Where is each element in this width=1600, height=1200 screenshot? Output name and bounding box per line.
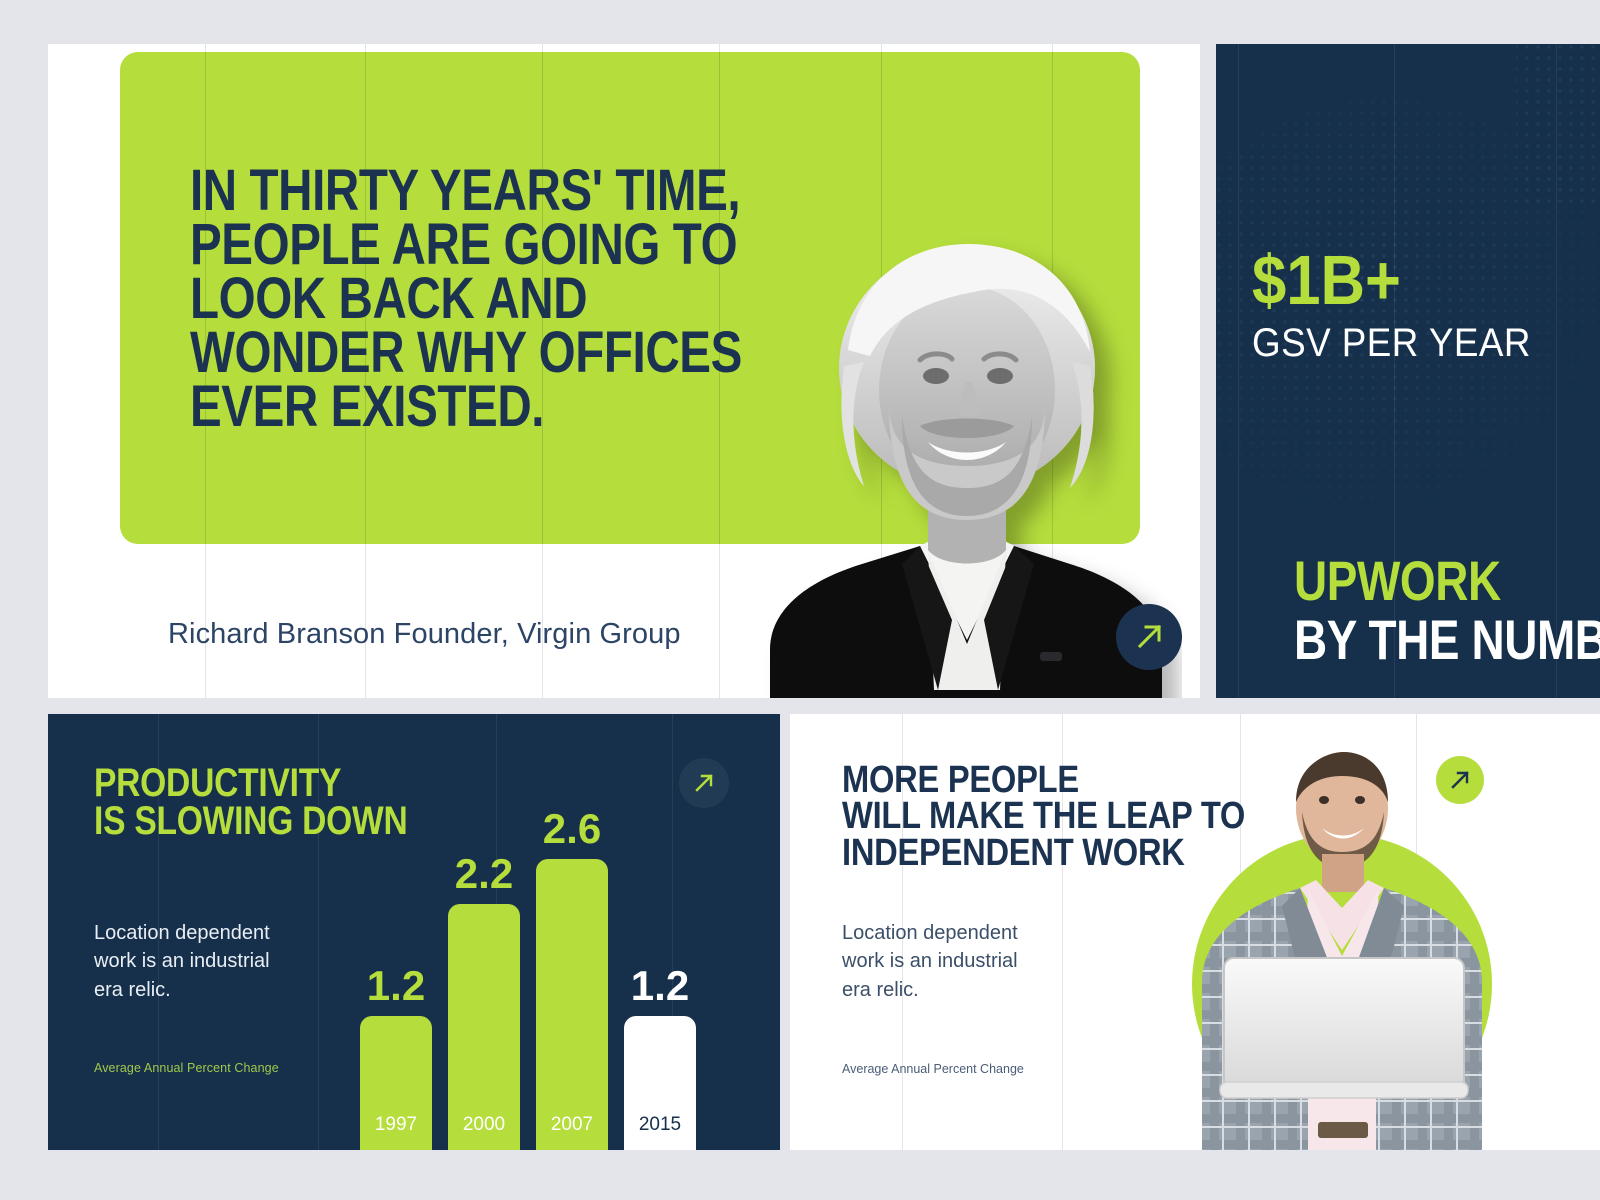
quote-line-2: PEOPLE ARE GOING TO <box>190 218 715 272</box>
bar-value-label: 2.2 <box>448 850 520 898</box>
upwork-numbers-panel: $1B+ GSV PER YEAR UPWORK BY THE NUMBERS <box>1216 44 1600 698</box>
productivity-chart-panel: PRODUCTIVITY IS SLOWING DOWN Location de… <box>48 714 780 1150</box>
chart-caption: Average Annual Percent Change <box>94 1061 279 1075</box>
quote-line-5: EVER EXISTED. <box>190 380 715 434</box>
bar-year-label: 2015 <box>624 1114 696 1136</box>
bar-rect: 2015 <box>624 1016 696 1150</box>
leap-title-line-1: MORE PEOPLE <box>842 762 1245 798</box>
quote-text: IN THIRTY YEARS' TIME, PEOPLE ARE GOING … <box>190 164 830 434</box>
quote-line-1: IN THIRTY YEARS' TIME, <box>190 164 715 218</box>
bar-rect: 2000 <box>448 904 520 1150</box>
stat-value: $1B+ <box>1252 240 1401 320</box>
bar-rect: 2007 <box>536 859 608 1150</box>
brand-line-by-the-numbers: BY THE NUMBERS <box>1294 607 1600 672</box>
bar-year-label: 2007 <box>536 1114 608 1136</box>
leap-caption: Average Annual Percent Change <box>842 1062 1024 1076</box>
arrow-up-right-icon <box>1116 604 1182 670</box>
bar-year-label: 2000 <box>448 1114 520 1136</box>
bar-slot: 2.62007 <box>536 754 608 1150</box>
quote-arrow-button[interactable] <box>1116 604 1182 670</box>
arrow-up-right-icon <box>1436 756 1484 804</box>
independent-work-panel: MORE PEOPLE WILL MAKE THE LEAP TO INDEPE… <box>790 714 1600 1150</box>
bar-value-label: 1.2 <box>360 962 432 1010</box>
bar-slot: 1.22015 <box>624 754 696 1150</box>
bar-value-label: 2.6 <box>536 805 608 853</box>
slide-deck-canvas: IN THIRTY YEARS' TIME, PEOPLE ARE GOING … <box>0 0 1600 1200</box>
quote-card: IN THIRTY YEARS' TIME, PEOPLE ARE GOING … <box>48 44 1200 698</box>
brand-line-upwork: UPWORK <box>1294 548 1501 613</box>
leap-arrow-button[interactable] <box>1436 756 1484 804</box>
stat-label: GSV PER YEAR <box>1252 321 1531 366</box>
bar-rect: 1997 <box>360 1016 432 1150</box>
leap-title-line-2: WILL MAKE THE LEAP TO <box>842 798 1245 834</box>
bar-chart: 1.219972.220002.620071.22015 <box>360 754 760 1150</box>
quote-line-4: WONDER WHY OFFICES <box>190 326 715 380</box>
quote-line-3: LOOK BACK AND <box>190 272 715 326</box>
bar-value-label: 1.2 <box>624 962 696 1010</box>
bar-slot: 1.21997 <box>360 754 432 1150</box>
leap-title-line-3: INDEPENDENT WORK <box>842 835 1245 871</box>
bar-year-label: 1997 <box>360 1114 432 1136</box>
bar-slot: 2.22000 <box>448 754 520 1150</box>
leap-body-text: Location dependent work is an industrial… <box>842 919 1042 1004</box>
chart-body-text: Location dependent work is an industrial… <box>94 919 304 1004</box>
leap-title: MORE PEOPLE WILL MAKE THE LEAP TO INDEPE… <box>842 762 1311 871</box>
quote-attribution: Richard Branson Founder, Virgin Group <box>168 618 681 651</box>
